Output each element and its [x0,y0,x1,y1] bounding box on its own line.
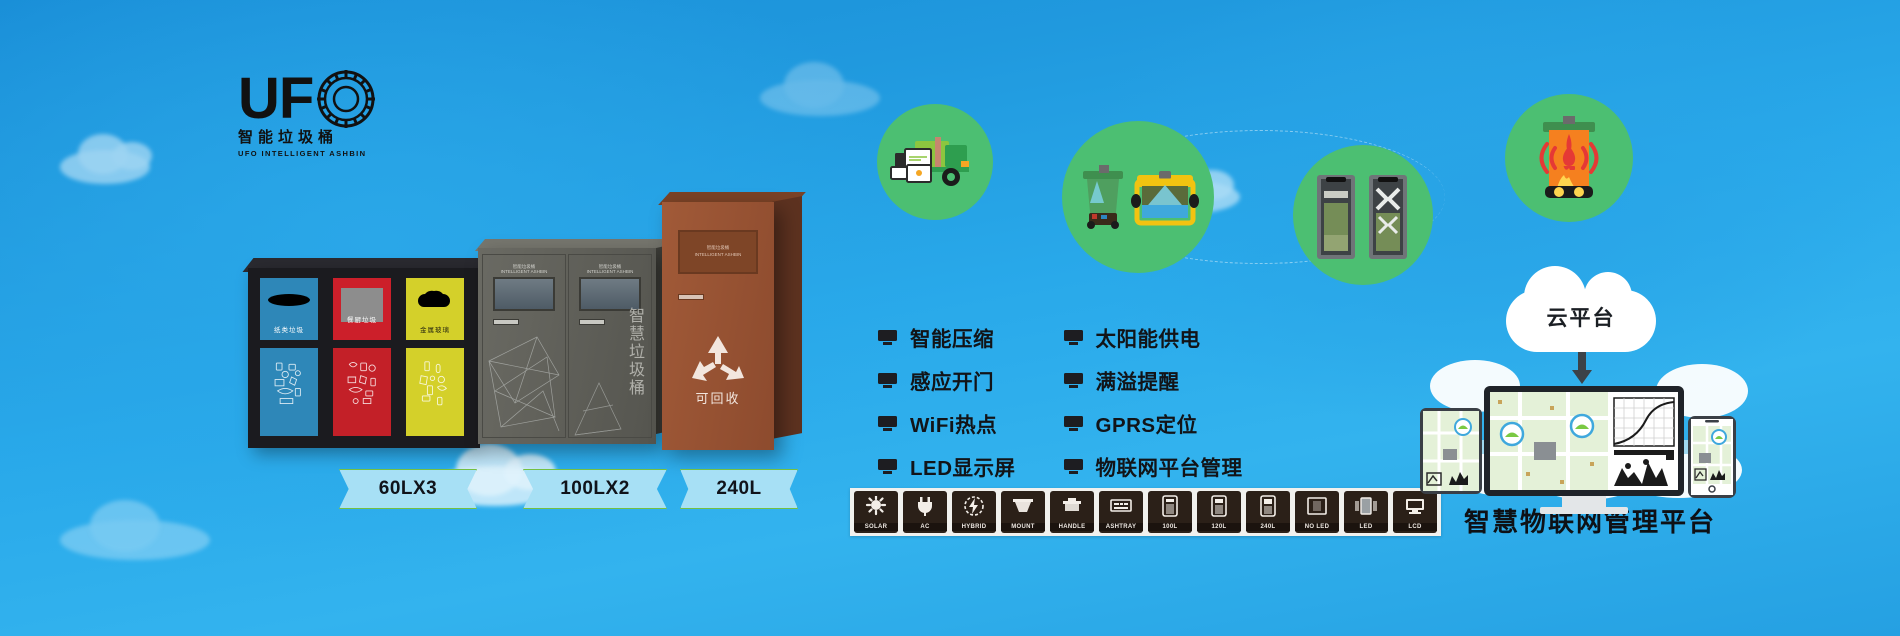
spec-icon-label: ASHTRAY [1099,523,1143,531]
feature-label: GPRS定位 [1096,408,1198,438]
monitor-bullet-icon [878,373,897,388]
spec-icon-mount: MOUNT [1001,491,1045,533]
compartment-upper-panel: 餐厨垃圾 [333,278,391,340]
monitor-bullet-icon [1064,416,1083,431]
waste-slot-oval [268,294,310,306]
compartment-lower-panel [260,348,318,436]
door-header-text: 智能垃圾桶 INTELLIGENT ASHBIN [493,265,555,274]
product-banner: UF [0,0,1900,636]
compartment-label: 餐厨垃圾 [333,314,391,324]
cloud-decoration [60,150,150,184]
door-handle [579,319,605,325]
logo-english-name: UFO INTELLIGENT ASHBIN [238,149,388,158]
fill-level-sensor-icon [1062,121,1214,273]
screen-header-text: 智能垃圾桶 INTELLIGENT ASHBIN [680,232,756,272]
feature-item: LED显示屏 [878,451,1016,481]
feature-item: 感应开门 [878,365,1016,395]
spec-icon-240l: 240L [1246,491,1290,533]
feature-item: 满溢提醒 [1064,365,1243,395]
compaction-icon [1293,145,1433,285]
spec-icon-solar: SOLAR [854,491,898,533]
yellow-bin-with-sensor [1131,171,1199,223]
cloud-platform-label: 云平台 [1506,302,1656,332]
spec-icon-label: SOLAR [854,523,898,531]
feature-label: WiFi热点 [910,408,997,438]
waste-slot-cloud [410,290,460,308]
bin-compartment-paper: 纸类垃圾 [256,278,322,440]
spec-icon-label: HANDLE [1050,523,1094,531]
caption-bin-100lx2: 100LX2 [523,469,667,509]
kitchen-waste-graphics-icon [343,358,381,409]
feature-item: GPRS定位 [1064,408,1243,438]
feature-item: 智能压缩 [878,322,1016,352]
caption-bin-60lx3: 60LX3 [339,469,477,509]
door-handle [678,294,704,300]
spec-icon-no-led: NO LED [1295,491,1339,533]
monitor-screen [1490,392,1678,490]
spec-icon-led: LED [1344,491,1388,533]
polygon-pattern-graphic [569,365,629,445]
compartment-label: 纸类垃圾 [260,324,318,334]
smartphone-device [1688,416,1736,498]
feature-label: LED显示屏 [910,451,1016,481]
feature-item: 太阳能供电 [1064,322,1243,352]
bin-240l-icon [1246,494,1290,518]
compartment-lower-panel [406,348,464,436]
smart-bin-door-right: 智能垃圾桶 INTELLIGENT ASHBIN 智慧垃圾桶 [568,254,652,438]
wall-mount-icon [1001,494,1045,518]
hybrid-power-icon [952,494,996,518]
spec-icon-120l: 120L [1197,491,1241,533]
feature-column-left: 智能压缩 感应开门 WiFi热点 LED显示屏 [878,322,1016,481]
spec-icon-label: 120L [1197,523,1241,531]
door-header-text: 智能垃圾桶 INTELLIGENT ASHBIN [579,265,641,274]
feature-list: 智能压缩 感应开门 WiFi热点 LED显示屏 太阳能供电 满溢提醒 [878,322,1243,481]
spec-icon-label: 240L [1246,523,1290,531]
brand-logo: UF [238,66,388,160]
fleet-monitoring-icon [877,104,993,220]
spec-icon-hybrid: HYBRID [952,491,996,533]
ac-plug-icon [903,494,947,518]
monitor-bullet-icon [1064,373,1083,388]
compartment-upper-panel: 纸类垃圾 [260,278,318,340]
tablet-device [1420,408,1482,494]
spec-icon-label: MOUNT [1001,523,1045,531]
compartment-upper-panel: 金属玻璃 [406,278,464,340]
product-bin-100lx2: 智能垃圾桶 INTELLIGENT ASHBIN 智能垃圾桶 INTELLIGE… [478,248,656,444]
down-arrow-icon [1570,352,1594,386]
feature-label: 物联网平台管理 [1096,451,1243,481]
solar-panel-icon [854,494,898,518]
smart-bin-door-left: 智能垃圾桶 INTELLIGENT ASHBIN [482,254,566,438]
cloud-decoration [60,520,210,560]
feature-column-right: 太阳能供电 满溢提醒 GPRS定位 物联网平台管理 [1064,322,1243,481]
monitor-base [1540,507,1628,514]
caption-bin-240l: 240L [680,469,798,509]
recycle-symbol-icon [688,334,748,386]
fire-alarm-icon [1505,94,1633,222]
bin-100l-icon [1148,494,1192,518]
product-bin-240l: 智能垃圾桶 INTELLIGENT ASHBIN 可回收 [662,202,774,450]
spec-icon-label: AC [903,523,947,531]
metal-glass-graphics-icon [416,358,454,409]
led-screen-icon [1344,494,1388,518]
logo-mark: UF [238,66,388,128]
ufo-logo-icon: UF [238,66,388,128]
bin-bottom-label: 可回收 [662,388,774,407]
cloud-platform-diagram: 云平台 [1420,290,1760,490]
bin-120l-icon [1197,494,1241,518]
feature-label: 智能压缩 [910,322,994,352]
monitor-bullet-icon [878,459,897,474]
bin-side-panel [772,196,802,439]
spec-icon-handle: HANDLE [1050,491,1094,533]
feature-item: WiFi热点 [878,408,1016,438]
recyclable-graphics-icon [270,358,308,409]
door-handle [493,319,519,325]
feature-label: 感应开门 [910,365,994,395]
spec-icon-label: LED [1344,523,1388,531]
led-display-screen [493,277,555,311]
svg-text:UF: UF [238,66,313,128]
led-display-screen [579,277,641,311]
no-led-icon [1295,494,1339,518]
desktop-monitor-device [1484,386,1684,496]
feature-item: 物联网平台管理 [1064,451,1243,481]
bin-compartment-kitchen: 餐厨垃圾 [329,278,395,440]
spec-icon-ashtray: ASHTRAY [1099,491,1143,533]
monitor-bullet-icon [878,330,897,345]
compartment-label: 金属玻璃 [406,324,464,334]
spec-icon-strip: SOLAR AC HYBRID [850,488,1441,536]
display-screen-panel: 智能垃圾桶 INTELLIGENT ASHBIN [678,230,758,274]
feature-label: 满溢提醒 [1096,365,1180,395]
polygon-pattern-graphic [485,331,567,439]
cloud-decoration [760,80,880,116]
spec-icon-ac: AC [903,491,947,533]
bin-compartment-metal-glass: 金属玻璃 [402,278,468,440]
handle-icon [1050,494,1094,518]
spec-icon-label: HYBRID [952,523,996,531]
monitor-bullet-icon [878,416,897,431]
ashtray-icon [1099,494,1143,518]
product-bin-60lx3: 纸类垃圾 [248,268,480,448]
monitor-bullet-icon [1064,330,1083,345]
compartment-lower-panel [333,348,391,436]
spec-icon-100l: 100L [1148,491,1192,533]
feature-label: 太阳能供电 [1096,322,1201,352]
monitor-body [1484,386,1684,496]
green-bin-with-sensor [1083,165,1123,229]
spec-icon-label: NO LED [1295,523,1339,531]
spec-icon-label: 100L [1148,523,1192,531]
monitor-bullet-icon [1064,459,1083,474]
logo-chinese-name: 智能垃圾桶 [238,130,388,145]
